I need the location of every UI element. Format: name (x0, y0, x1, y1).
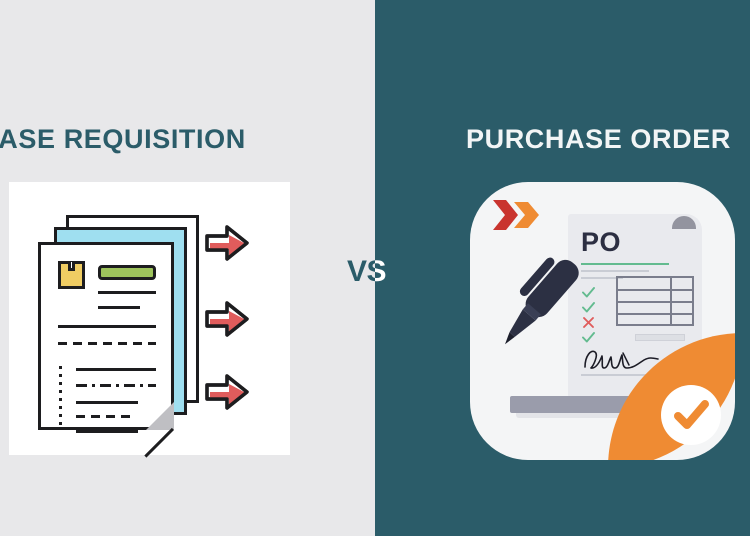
flow-arrow-2 (205, 301, 249, 337)
flow-arrow-3 (205, 374, 249, 410)
po-heading-underline (581, 263, 669, 265)
doc-line-dashed-2 (76, 415, 136, 418)
doc-line-dashdot (76, 384, 156, 387)
versus-label-left: VS (347, 255, 375, 289)
line-item-table (616, 276, 694, 326)
package-box-notch (68, 262, 75, 271)
doc-line-3 (58, 325, 156, 328)
approved-check-badge (608, 333, 735, 460)
document-front-sheet (38, 242, 174, 430)
doc-line-6 (76, 430, 138, 433)
table-row-divider-3 (618, 313, 692, 315)
signing-pen-icon (488, 248, 588, 360)
green-field-bar (98, 265, 156, 280)
page-fold-corner (146, 402, 174, 430)
page-title-purchase-order: PURCHASE ORDER (466, 126, 731, 153)
purchase-order-illustration-card: PO (470, 182, 735, 460)
page-fold-edge (144, 428, 174, 458)
doc-line-1 (98, 291, 156, 294)
table-row-divider-2 (618, 301, 692, 303)
table-column-divider (670, 278, 672, 324)
doc-dotted-margin (59, 366, 62, 426)
page-title-purchase-requisition: RCHASE REQUISITION (0, 126, 246, 153)
versus-label-right: VS (375, 255, 386, 289)
versus-right-half: VS (375, 255, 403, 289)
versus-badge: VS VS (347, 255, 403, 289)
document-clip-tab (672, 216, 696, 229)
doc-line-4 (76, 368, 156, 371)
requisition-illustration-card (9, 182, 290, 455)
doc-line-5 (76, 401, 138, 404)
comparison-graphic: RCHASE REQUISITION PURCHASE ORDER (0, 0, 750, 536)
table-row-divider-1 (618, 289, 692, 291)
doc-line-2 (98, 306, 140, 309)
double-chevron-logo (492, 198, 544, 232)
package-box-icon (58, 261, 85, 289)
flow-arrow-1 (205, 225, 249, 261)
po-subline-1 (581, 270, 649, 272)
versus-left-half: VS (347, 255, 375, 289)
doc-line-dashed-1 (58, 342, 156, 345)
